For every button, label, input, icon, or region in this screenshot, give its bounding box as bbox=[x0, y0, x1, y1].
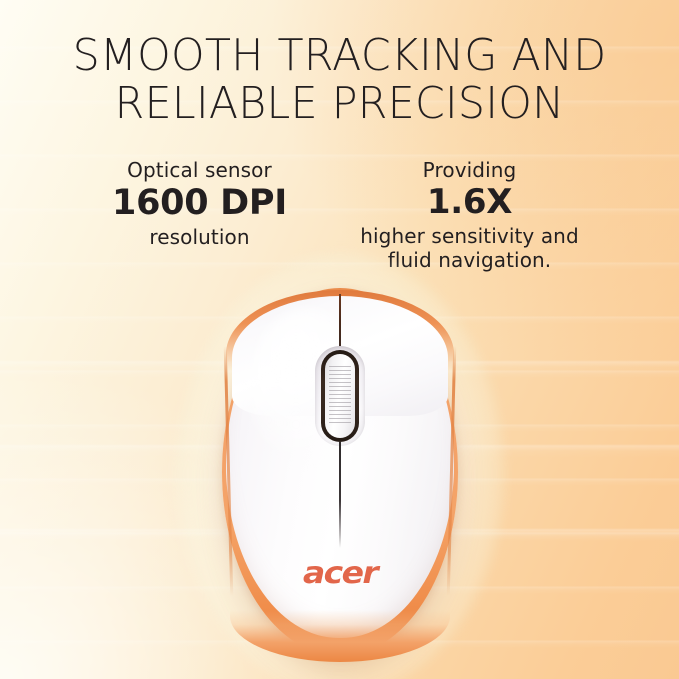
stat-dpi: Optical sensor 1600 DPI resolution bbox=[75, 158, 325, 249]
stat-sensitivity-prefix: Providing bbox=[335, 158, 605, 182]
headline-line-1: SMOOTH TRACKING AND bbox=[10, 32, 669, 80]
stat-dpi-suffix: resolution bbox=[75, 225, 325, 249]
stat-sensitivity: Providing 1.6X higher sensitivity and fl… bbox=[335, 158, 605, 273]
acer-logo: acer bbox=[222, 557, 458, 587]
product-image-mouse: acer bbox=[222, 288, 458, 660]
stat-sensitivity-suffix-line-1: higher sensitivity and bbox=[335, 224, 605, 248]
stat-sensitivity-value: 1.6X bbox=[335, 183, 605, 222]
stat-sensitivity-suffix-line-2: fluid navigation. bbox=[335, 248, 605, 272]
stat-dpi-value: 1600 DPI bbox=[75, 183, 325, 224]
stats-row: Optical sensor 1600 DPI resolution Provi… bbox=[0, 158, 679, 273]
scroll-wheel-icon bbox=[325, 354, 355, 438]
scroll-wheel-ribs bbox=[329, 366, 351, 426]
headline: SMOOTH TRACKING AND RELIABLE PRECISION bbox=[0, 32, 679, 127]
stat-dpi-prefix: Optical sensor bbox=[75, 158, 325, 182]
headline-line-2: RELIABLE PRECISION bbox=[10, 80, 669, 128]
product-feature-banner: SMOOTH TRACKING AND RELIABLE PRECISION O… bbox=[0, 0, 679, 679]
